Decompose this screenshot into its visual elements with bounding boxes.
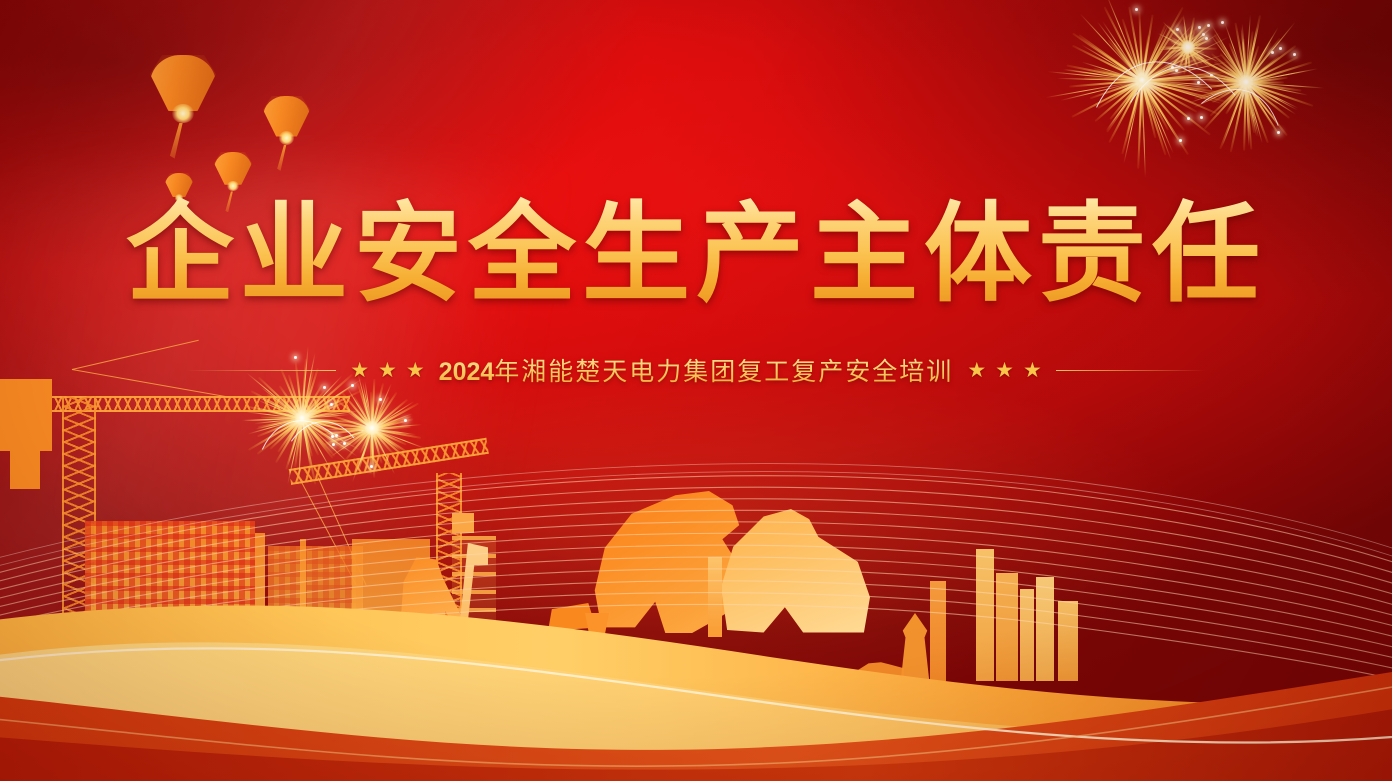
firework-spark <box>379 398 382 401</box>
sky-lantern <box>150 55 216 127</box>
crane-hook-block <box>452 513 474 533</box>
sky-lantern <box>263 96 310 148</box>
poster-canvas: 企业安全生产主体责任 ★ ★ ★ 2024年湘能楚天电力集团复工复产安全培训 ★… <box>0 0 1392 781</box>
gold-wave-ribbon <box>0 571 1392 781</box>
firework-core <box>364 420 380 436</box>
firework-spark <box>1293 53 1296 56</box>
poster-title: 企业安全生产主体责任 <box>126 196 1266 313</box>
firework-burst-small <box>1186 45 1190 49</box>
firework-spark <box>404 419 407 422</box>
firework-core <box>1238 74 1254 90</box>
firework-burst <box>370 426 374 430</box>
title-block: 企业安全生产主体责任 <box>0 196 1392 313</box>
firework-spark <box>351 384 354 387</box>
firework-burst <box>1244 80 1248 84</box>
sky-lantern <box>214 152 252 194</box>
crane-counterweight <box>10 447 40 489</box>
firework-spark <box>1135 8 1138 11</box>
crane-wire <box>72 369 230 398</box>
scene-artwork <box>0 361 1392 781</box>
crane-counterweight <box>0 379 52 451</box>
firework-spark <box>323 386 326 389</box>
firework-core <box>1180 39 1196 55</box>
